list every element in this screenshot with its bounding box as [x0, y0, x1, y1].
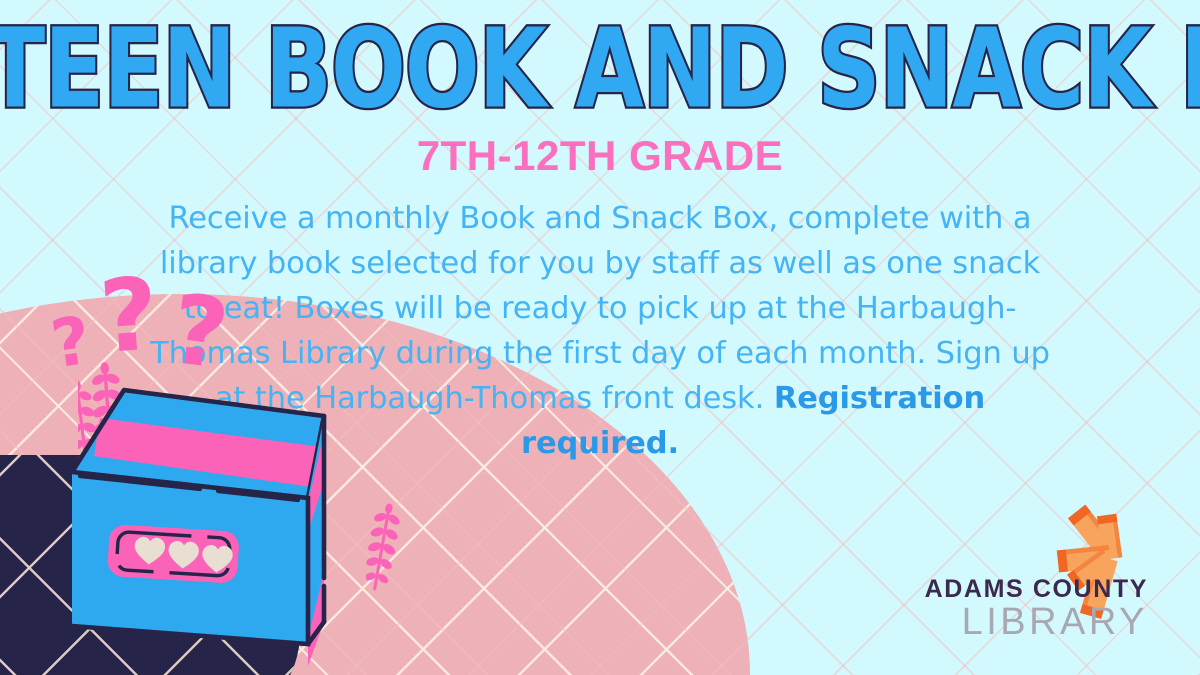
book-snack-box-illustration: [52, 376, 392, 666]
logo-wordmark: ADAMS COUNTY LIBRARY: [925, 576, 1148, 643]
question-mark-icon-medium: ?: [166, 281, 233, 383]
heart-label-icon: [107, 524, 240, 584]
adams-county-library-logo: ADAMS COUNTY LIBRARY: [906, 501, 1166, 661]
headline-container: TEEN BOOK AND SNACK BOXES: [0, 14, 1200, 110]
logo-line-library: LIBRARY: [925, 603, 1148, 643]
grade-range-subtitle: 7TH-12TH GRADE: [0, 132, 1200, 180]
page-title: TEEN BOOK AND SNACK BOXES: [0, 14, 1200, 123]
logo-line-adams-county: ADAMS COUNTY: [925, 576, 1148, 602]
poster-canvas: TEEN BOOK AND SNACK BOXES 7TH-12TH GRADE…: [0, 0, 1200, 675]
question-mark-icon-large: ?: [97, 264, 162, 368]
